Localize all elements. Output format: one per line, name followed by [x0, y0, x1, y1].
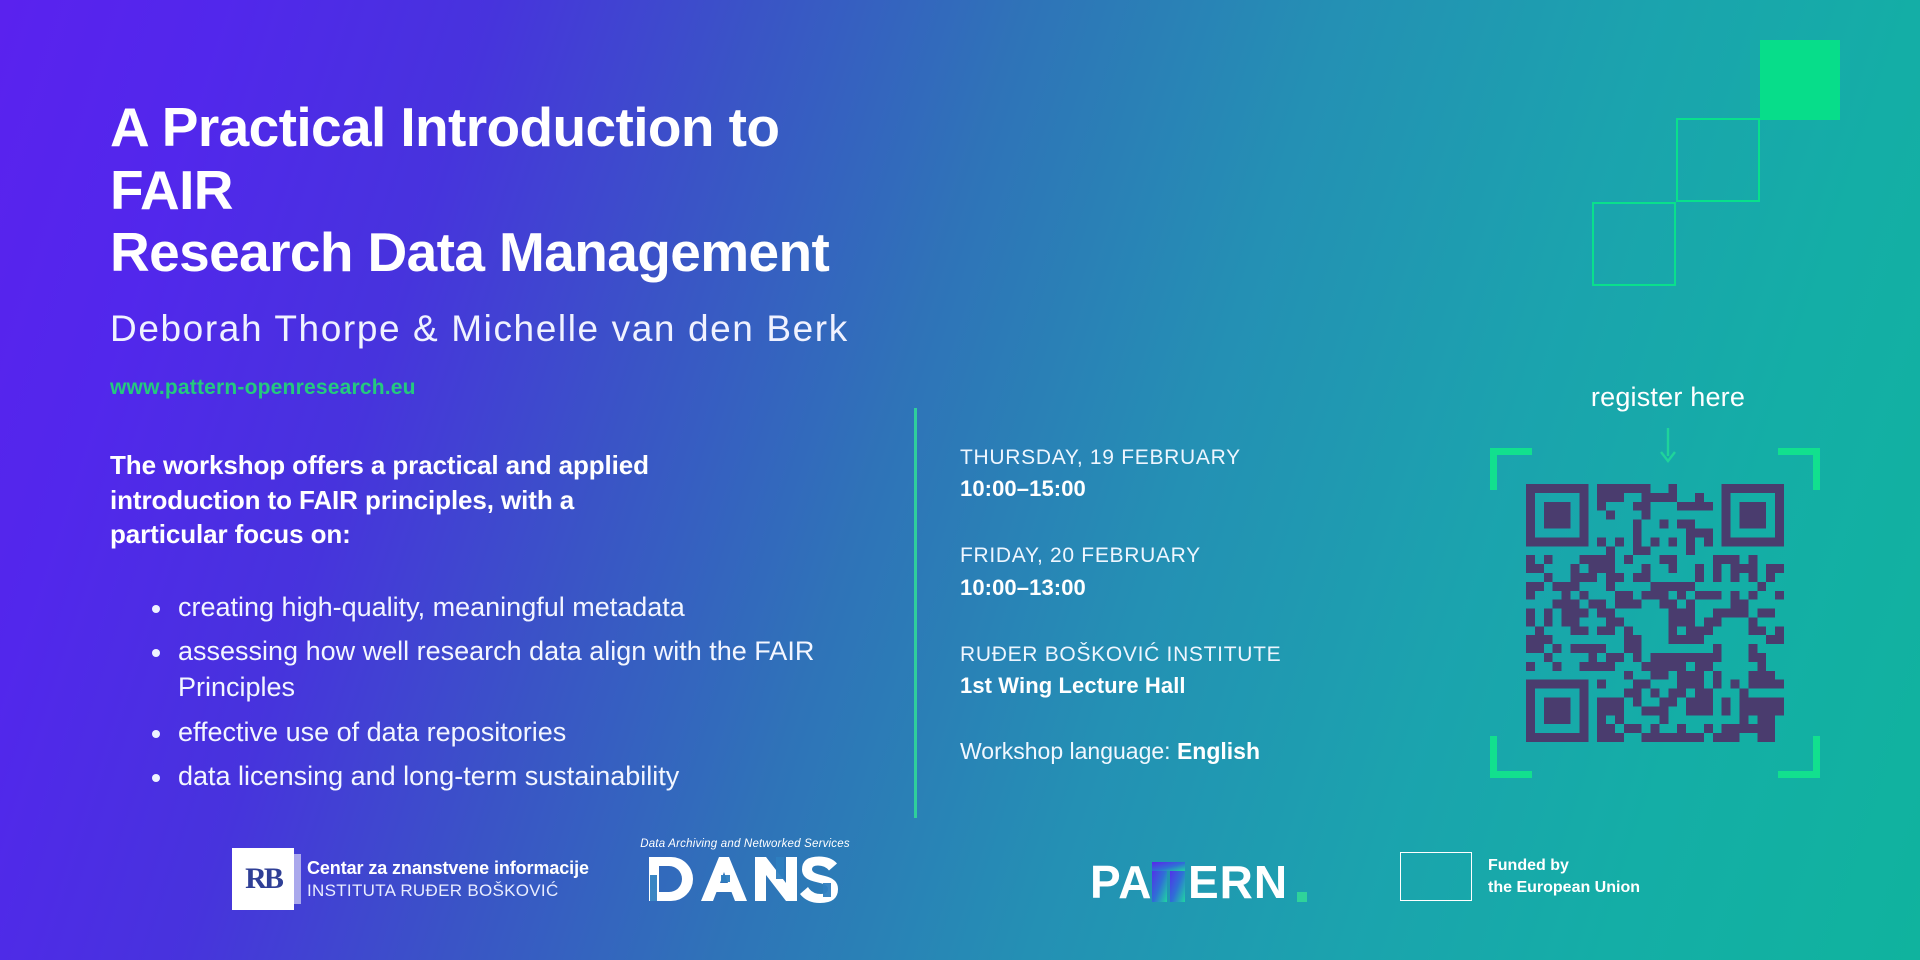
eu-funding-logo: Funded by the European Union	[1400, 852, 1640, 901]
main-content-column: A Practical Introduction to FAIR Researc…	[110, 96, 910, 804]
dans-logo: Data Archiving and Networked Services	[630, 838, 860, 910]
list-item: effective use of data repositories	[152, 715, 910, 751]
day-1-time: 10:00–15:00	[960, 473, 1320, 505]
day-1-date: THURSDAY, 19 FEBRUARY	[960, 443, 1320, 473]
qr-code-icon[interactable]	[1526, 484, 1784, 742]
eu-line-2: the European Union	[1488, 877, 1640, 898]
rbi-mark-icon: RB	[232, 848, 294, 910]
event-day-1: THURSDAY, 19 FEBRUARY 10:00–15:00	[960, 443, 1320, 505]
qr-bracket-bottom-right	[1778, 736, 1820, 778]
pattern-wordmark-icon: PA ERN	[1090, 856, 1320, 910]
decorative-square-outline-1	[1676, 118, 1760, 202]
qr-code-block[interactable]	[1490, 448, 1820, 778]
event-venue: RUĐER BOŠKOVIĆ INSTITUTE 1st Wing Lectur…	[960, 640, 1320, 702]
decorative-square-filled	[1760, 40, 1840, 120]
list-item: creating high-quality, meaningful metada…	[152, 590, 910, 626]
rbi-logo: RB Centar za znanstvene informacije INST…	[232, 848, 589, 910]
eu-line-1: Funded by	[1488, 855, 1640, 876]
pattern-logo: PA ERN	[1090, 856, 1320, 915]
pattern-text-ern: ERN	[1188, 856, 1288, 908]
workshop-language: Workshop language: English	[960, 738, 1320, 765]
register-caption: register here	[1538, 382, 1798, 413]
dans-wordmark-icon	[645, 853, 845, 905]
rbi-monogram: RB	[245, 862, 281, 896]
rbi-line-2: INSTITUTA RUĐER BOŠKOVIĆ	[307, 881, 589, 901]
venue-room: 1st Wing Lecture Hall	[960, 670, 1320, 702]
poster-canvas: A Practical Introduction to FAIR Researc…	[0, 0, 1920, 960]
event-details-column: THURSDAY, 19 FEBRUARY 10:00–15:00 FRIDAY…	[960, 443, 1320, 765]
poster-title: A Practical Introduction to FAIR Researc…	[110, 96, 910, 284]
website-url[interactable]: www.pattern-openresearch.eu	[110, 376, 910, 400]
event-day-2: FRIDAY, 20 FEBRUARY 10:00–13:00	[960, 541, 1320, 603]
qr-bracket-bottom-left	[1490, 736, 1532, 778]
day-2-time: 10:00–13:00	[960, 572, 1320, 604]
venue-name: RUĐER BOŠKOVIĆ INSTITUTE	[960, 640, 1320, 670]
focus-topics-list: creating high-quality, meaningful metada…	[152, 590, 910, 795]
rbi-line-1: Centar za znanstvene informacije	[307, 858, 589, 879]
vertical-divider	[914, 408, 917, 818]
eu-funding-text: Funded by the European Union	[1488, 855, 1640, 897]
poster-authors: Deborah Thorpe & Michelle van den Berk	[110, 308, 910, 350]
decorative-square-outline-2	[1592, 202, 1676, 286]
day-2-date: FRIDAY, 20 FEBRUARY	[960, 541, 1320, 571]
list-item: assessing how well research data align w…	[152, 634, 910, 705]
list-item: data licensing and long-term sustainabil…	[152, 759, 910, 795]
language-value: English	[1177, 738, 1260, 764]
language-label: Workshop language:	[960, 738, 1171, 764]
footer-logos: RB Centar za znanstvene informacije INST…	[0, 840, 1920, 930]
qr-bracket-top-right	[1778, 448, 1820, 490]
eu-flag-icon	[1400, 852, 1472, 901]
pattern-text-pa: PA	[1090, 856, 1153, 908]
dans-tagline: Data Archiving and Networked Services	[630, 838, 860, 850]
workshop-description: The workshop offers a practical and appl…	[110, 448, 910, 552]
